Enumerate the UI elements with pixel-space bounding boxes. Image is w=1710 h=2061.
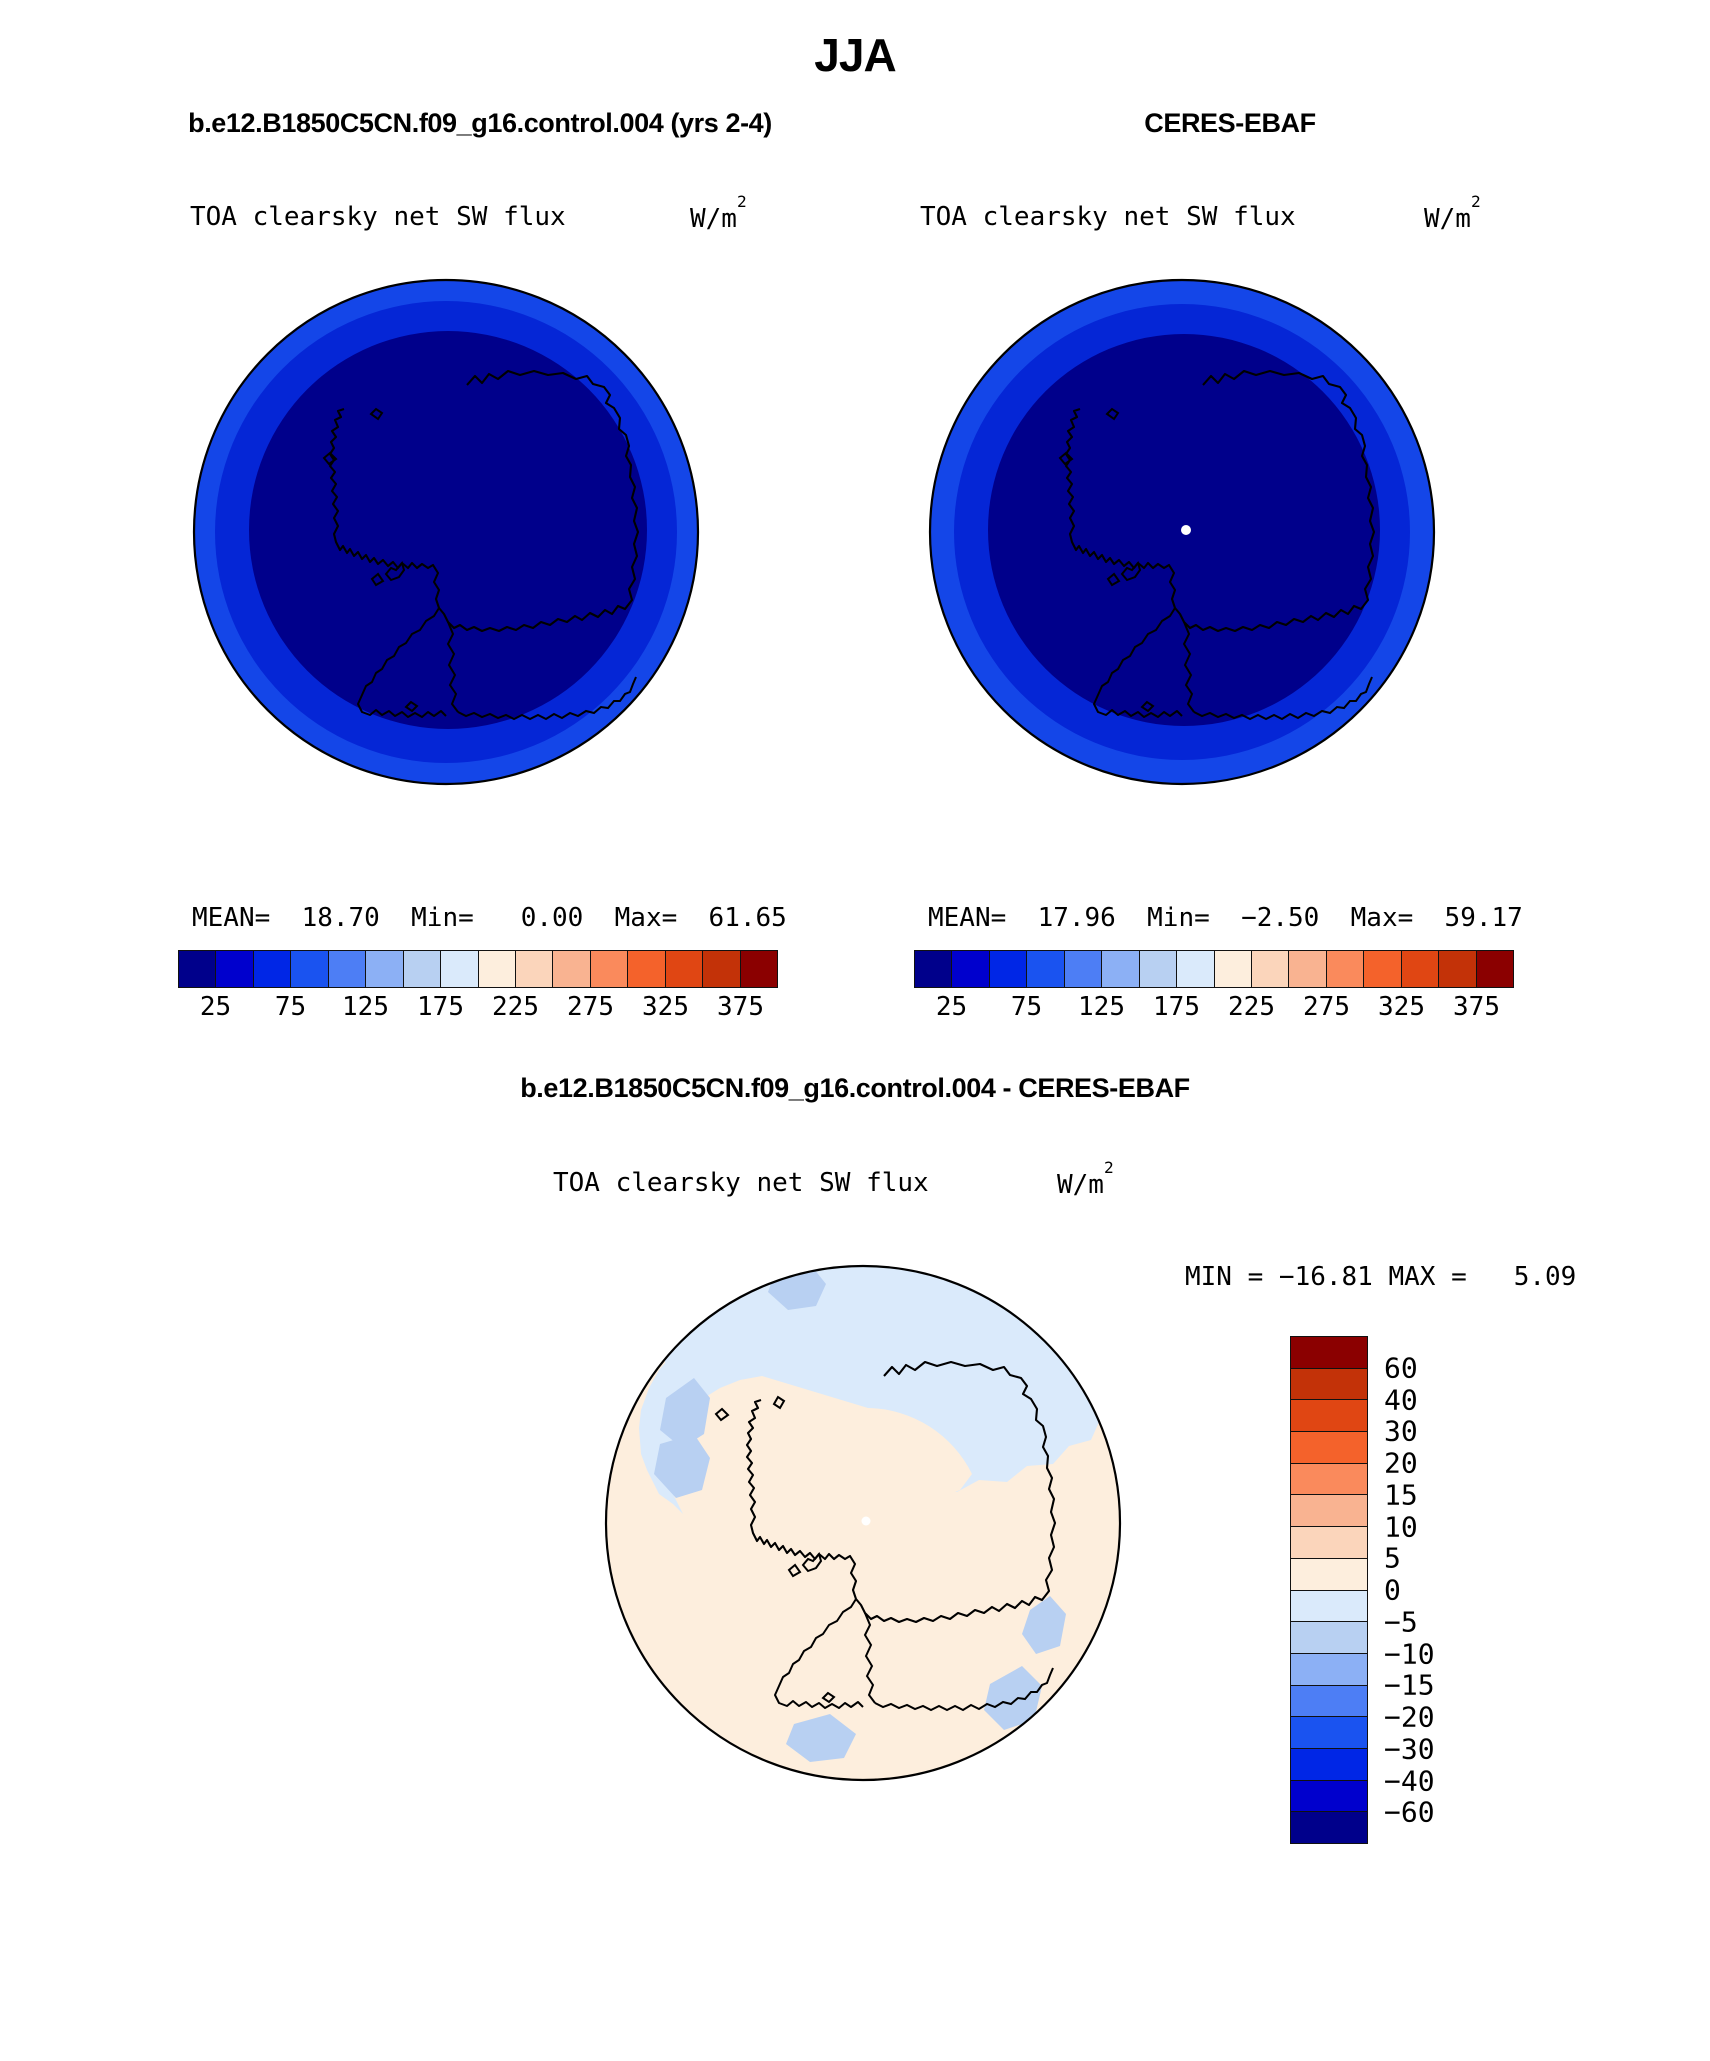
- colorbar-tick-label: 20: [1384, 1447, 1418, 1480]
- colorbar-cell: [1289, 951, 1326, 987]
- model-polar-map: [186, 272, 706, 792]
- colorbar-tick-label: −60: [1384, 1796, 1435, 1829]
- colorbar-cell: [479, 951, 516, 987]
- difference-case-title: b.e12.B1850C5CN.f09_g16.control.004 - CE…: [0, 1073, 1710, 1104]
- obs-south-pole-marker: [1181, 525, 1191, 535]
- colorbar-cell: [1291, 1495, 1367, 1527]
- obs-polar-map: [922, 272, 1442, 792]
- colorbar-cell: [216, 951, 253, 987]
- obs-map-svg: [922, 272, 1442, 792]
- difference-south-pole-marker: [862, 1517, 871, 1526]
- colorbar-cell: [1252, 951, 1289, 987]
- colorbar-cell: [1439, 951, 1476, 987]
- colorbar-tick-label: −40: [1384, 1764, 1435, 1797]
- colorbar-cell: [1364, 951, 1401, 987]
- colorbar-cell: [1291, 1812, 1367, 1843]
- colorbar-tick-label: 125: [342, 992, 389, 1022]
- obs-colorbar[interactable]: [914, 950, 1514, 988]
- model-colorbar-labels: 2575125175225275325375: [178, 992, 778, 1026]
- obs-variable-label: TOA clearsky net SW flux: [920, 202, 1296, 232]
- difference-polar-map: [598, 1258, 1128, 1788]
- model-stats-line: MEAN= 18.70 Min= 0.00 Max= 61.65: [192, 903, 787, 933]
- colorbar-tick-label: 15: [1384, 1478, 1418, 1511]
- colorbar-tick-label: −10: [1384, 1637, 1435, 1670]
- colorbar-tick-label: 60: [1384, 1351, 1418, 1384]
- colorbar-cell: [741, 951, 777, 987]
- difference-units-text: W/m: [1057, 1170, 1104, 1200]
- colorbar-cell: [1291, 1622, 1367, 1654]
- colorbar-tick-label: 175: [417, 992, 464, 1022]
- colorbar-cell: [628, 951, 665, 987]
- colorbar-cell: [952, 951, 989, 987]
- colorbar-cell: [1402, 951, 1439, 987]
- model-map-svg: [186, 272, 706, 792]
- colorbar-cell: [1477, 951, 1513, 987]
- colorbar-tick-label: 325: [642, 992, 689, 1022]
- colorbar-cell: [441, 951, 478, 987]
- difference-map-svg: [598, 1258, 1128, 1788]
- difference-colorbar-labels: 60403020151050−5−10−15−20−30−40−60: [1384, 1336, 1514, 1844]
- colorbar-cell: [666, 951, 703, 987]
- colorbar-tick-label: −5: [1384, 1605, 1418, 1638]
- colorbar-tick-label: 275: [1303, 992, 1350, 1022]
- colorbar-cell: [1102, 951, 1139, 987]
- colorbar-tick-label: 325: [1378, 992, 1425, 1022]
- colorbar-cell: [990, 951, 1027, 987]
- colorbar-cell: [179, 951, 216, 987]
- colorbar-tick-label: 10: [1384, 1510, 1418, 1543]
- obs-case-title: CERES-EBAF: [870, 108, 1590, 139]
- colorbar-cell: [516, 951, 553, 987]
- colorbar-cell: [1140, 951, 1177, 987]
- colorbar-cell: [404, 951, 441, 987]
- colorbar-tick-label: 375: [717, 992, 764, 1022]
- colorbar-tick-label: −30: [1384, 1732, 1435, 1765]
- colorbar-cell: [553, 951, 590, 987]
- obs-units-label: W/m2: [1424, 202, 1481, 234]
- colorbar-cell: [1291, 1432, 1367, 1464]
- model-case-title: b.e12.B1850C5CN.f09_g16.control.004 (yrs…: [120, 108, 840, 139]
- season-title: JJA: [0, 28, 1710, 82]
- colorbar-tick-label: −15: [1384, 1669, 1435, 1702]
- difference-colorbar[interactable]: [1290, 1336, 1368, 1844]
- colorbar-cell: [254, 951, 291, 987]
- model-units-text: W/m: [690, 204, 737, 234]
- colorbar-cell: [1177, 951, 1214, 987]
- model-units-label: W/m2: [690, 202, 747, 234]
- colorbar-tick-label: 40: [1384, 1383, 1418, 1416]
- colorbar-tick-label: 125: [1078, 992, 1125, 1022]
- colorbar-cell: [1291, 1591, 1367, 1623]
- colorbar-tick-label: 0: [1384, 1574, 1401, 1607]
- colorbar-cell: [1291, 1717, 1367, 1749]
- colorbar-cell: [915, 951, 952, 987]
- model-band-0-25: [249, 331, 647, 729]
- colorbar-tick-label: 25: [200, 992, 231, 1022]
- colorbar-cell: [291, 951, 328, 987]
- colorbar-tick-label: −20: [1384, 1701, 1435, 1734]
- colorbar-cell: [1291, 1464, 1367, 1496]
- model-colorbar[interactable]: [178, 950, 778, 988]
- difference-units-label: W/m2: [1057, 1168, 1114, 1200]
- colorbar-cell: [1215, 951, 1252, 987]
- difference-variable-label: TOA clearsky net SW flux: [553, 1168, 929, 1198]
- model-units-exponent: 2: [737, 192, 747, 211]
- model-variable-label: TOA clearsky net SW flux: [190, 202, 566, 232]
- obs-stats-line: MEAN= 17.96 Min= −2.50 Max= 59.17: [928, 903, 1523, 933]
- colorbar-cell: [591, 951, 628, 987]
- colorbar-tick-label: 30: [1384, 1415, 1418, 1448]
- colorbar-tick-label: 275: [567, 992, 614, 1022]
- colorbar-cell: [1291, 1654, 1367, 1686]
- colorbar-cell: [703, 951, 740, 987]
- obs-units-exponent: 2: [1471, 192, 1481, 211]
- difference-stats-line: MIN = −16.81 MAX = 5.09: [1185, 1262, 1576, 1292]
- model-map-field: [194, 280, 698, 784]
- colorbar-cell: [366, 951, 403, 987]
- colorbar-cell: [1291, 1337, 1367, 1369]
- colorbar-cell: [1065, 951, 1102, 987]
- colorbar-cell: [1291, 1686, 1367, 1718]
- colorbar-cell: [1291, 1749, 1367, 1781]
- colorbar-tick-label: 375: [1453, 992, 1500, 1022]
- colorbar-cell: [1291, 1781, 1367, 1813]
- colorbar-cell: [329, 951, 366, 987]
- obs-units-text: W/m: [1424, 204, 1471, 234]
- obs-colorbar-labels: 2575125175225275325375: [914, 992, 1514, 1026]
- colorbar-cell: [1291, 1527, 1367, 1559]
- colorbar-tick-label: 75: [275, 992, 306, 1022]
- colorbar-tick-label: 75: [1011, 992, 1042, 1022]
- colorbar-tick-label: 225: [492, 992, 539, 1022]
- colorbar-cell: [1291, 1369, 1367, 1401]
- colorbar-cell: [1027, 951, 1064, 987]
- colorbar-tick-label: 5: [1384, 1542, 1401, 1575]
- colorbar-tick-label: 25: [936, 992, 967, 1022]
- difference-units-exponent: 2: [1104, 1158, 1114, 1177]
- colorbar-tick-label: 225: [1228, 992, 1275, 1022]
- colorbar-cell: [1291, 1400, 1367, 1432]
- colorbar-cell: [1327, 951, 1364, 987]
- colorbar-tick-label: 175: [1153, 992, 1200, 1022]
- colorbar-cell: [1291, 1559, 1367, 1591]
